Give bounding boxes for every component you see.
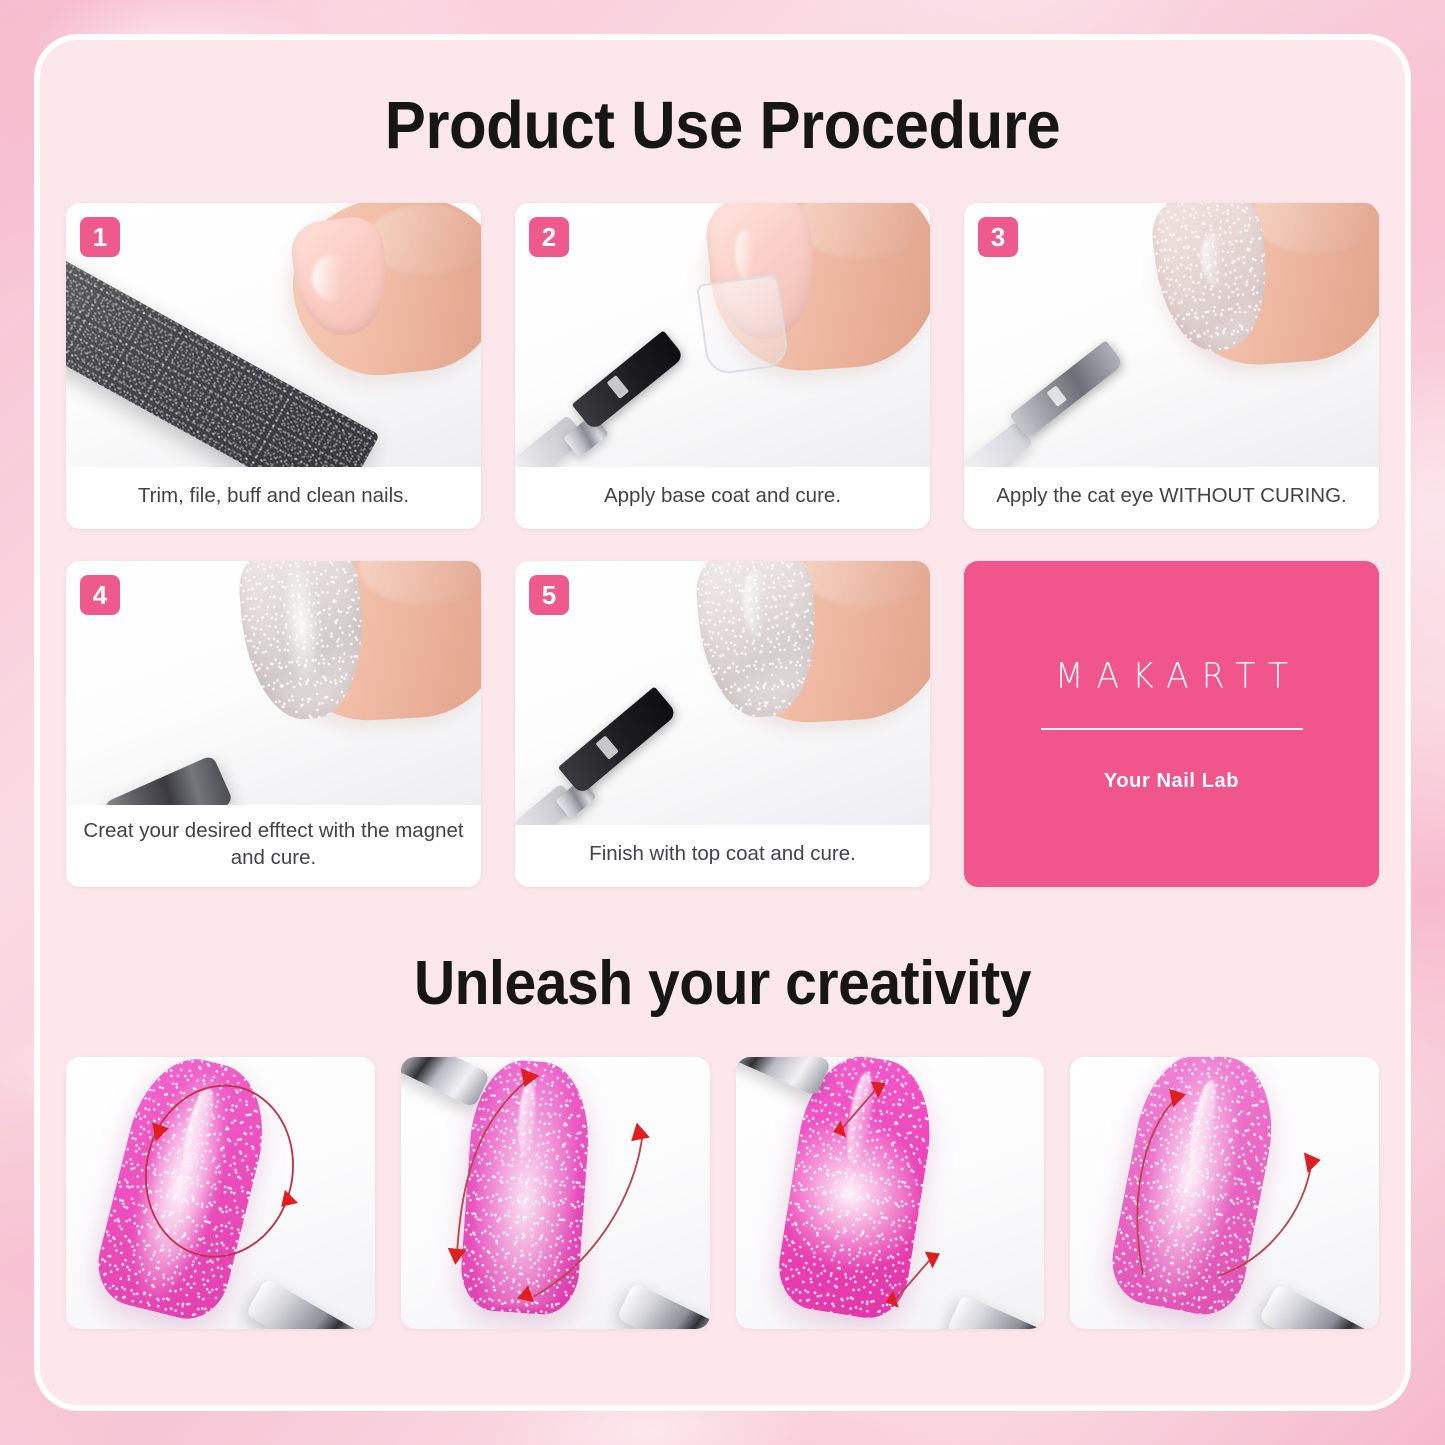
magnet-bar	[736, 1057, 832, 1097]
step-2-photo: 2	[515, 203, 930, 467]
step-card-3: 3 Apply the cat eye WITHOUT CURING.	[964, 203, 1379, 529]
procedure-step-grid: 1 Trim, file, buff and clean nails.	[40, 159, 1405, 887]
step-card-4: 4 Creat your desired efftect with the ma…	[66, 561, 481, 887]
magnet-bar	[245, 1278, 375, 1329]
step-caption: Trim, file, buff and clean nails.	[66, 467, 481, 529]
content-panel: Product Use Procedure	[34, 34, 1411, 1411]
creativity-card-2	[401, 1057, 710, 1329]
step-card-1: 1 Trim, file, buff and clean nails.	[66, 203, 481, 529]
creativity-grid	[40, 1015, 1405, 1329]
step-1-photo: 1	[66, 203, 481, 467]
step-5-photo: 5	[515, 561, 930, 825]
creativity-card-3	[736, 1057, 1045, 1329]
step-number-badge: 1	[80, 217, 120, 257]
brand-divider	[1041, 728, 1303, 730]
brand-logo-text: MAKARTT	[1042, 654, 1301, 695]
brand-tagline: Your Nail Lab	[1104, 770, 1239, 793]
step-caption: Creat your desired efftect with the magn…	[66, 805, 481, 887]
step-card-2: 2 Apply base coat and cure.	[515, 203, 930, 529]
step-caption: Apply base coat and cure.	[515, 467, 930, 529]
step-number-badge: 4	[80, 575, 120, 615]
magnet-bar	[947, 1294, 1045, 1329]
page-title: Product Use Procedure	[95, 40, 1351, 159]
creativity-card-4	[1070, 1057, 1379, 1329]
step-number-badge: 2	[529, 217, 569, 257]
step-caption: Finish with top coat and cure.	[515, 825, 930, 887]
step-card-5: 5 Finish with top coat and cure.	[515, 561, 930, 887]
magnet-bar	[1258, 1283, 1379, 1329]
step-4-photo: 4	[66, 561, 481, 805]
step-number-badge: 5	[529, 575, 569, 615]
brand-card: MAKARTT Your Nail Lab	[964, 561, 1379, 887]
infographic-page: Product Use Procedure	[0, 0, 1445, 1445]
magnet-bar	[616, 1282, 710, 1329]
step-3-photo: 3	[964, 203, 1379, 467]
creativity-title: Unleash your creativity	[95, 945, 1351, 1015]
creativity-card-1	[66, 1057, 375, 1329]
step-number-badge: 3	[978, 217, 1018, 257]
step-caption: Apply the cat eye WITHOUT CURING.	[964, 467, 1379, 529]
